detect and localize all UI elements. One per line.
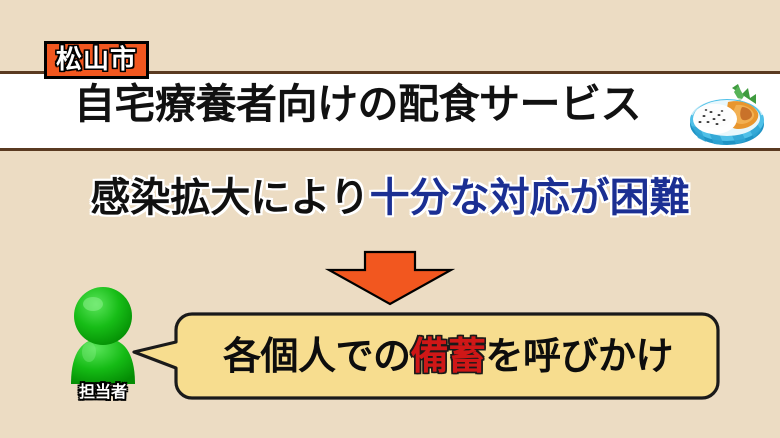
callout-bubble: 各個人での備蓄を呼びかけ — [132, 312, 720, 400]
page-title: 自宅療養者向けの配食サービス — [74, 84, 641, 125]
subline-plain: 感染拡大により — [90, 175, 369, 221]
subline: 感染拡大により十分な対応が困難 — [0, 178, 780, 218]
callout-text-before: 各個人での — [223, 337, 411, 375]
city-badge: 松山市 — [44, 41, 149, 79]
callout-text-accent: 備蓄 — [410, 337, 485, 375]
bento-box-icon — [686, 82, 768, 150]
subline-accent: 十分な対応が困難 — [370, 175, 690, 221]
callout-text-after: を呼びかけ — [486, 337, 674, 375]
down-arrow-icon — [325, 250, 455, 306]
broadcast-graphic-stage: 松山市 自宅療養者向けの配食サービス — [0, 0, 780, 438]
city-badge-label: 松山市 — [56, 47, 137, 73]
person-label: 担当者 — [59, 384, 147, 400]
callout-bubble-text: 各個人での備蓄を呼びかけ — [176, 312, 720, 400]
